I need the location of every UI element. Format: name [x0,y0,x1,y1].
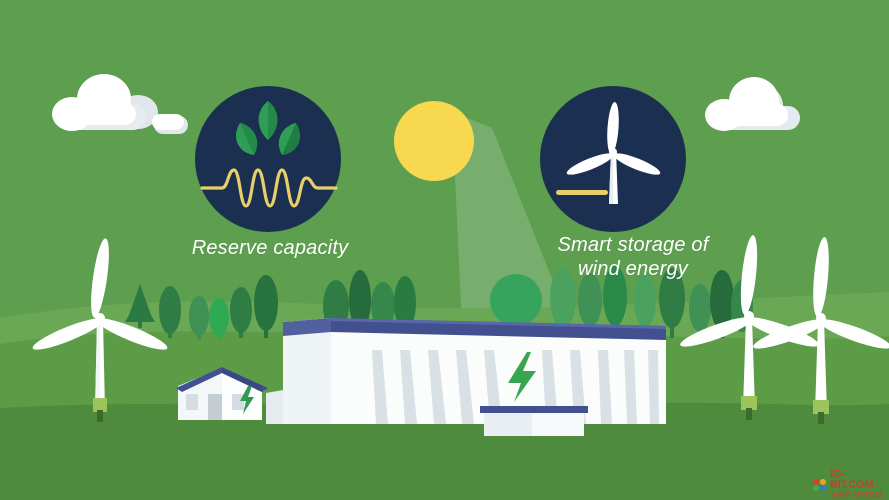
watermark-main-text: IG-BIT.COM [830,469,885,491]
turbine-hub [609,148,617,156]
watermark: IG-BIT.COM 元器件采购商城 [811,471,885,497]
badge-label-reserve-capacity: Reserve capacity [170,236,370,260]
color-dots-icon [811,476,828,493]
badge-reserve-capacity[interactable] [195,86,341,232]
yellow-bar-icon [556,190,608,195]
badge-layer [0,0,889,500]
badge-smart-storage[interactable] [540,86,686,232]
watermark-text: IG-BIT.COM 元器件采购商城 [830,469,885,499]
illustration-scene: Reserve capacity Smart storage of wind e… [0,0,889,500]
badge-label-smart-storage: Smart storage of wind energy [512,233,754,281]
watermark-sub-text: 元器件采购商城 [830,492,885,499]
